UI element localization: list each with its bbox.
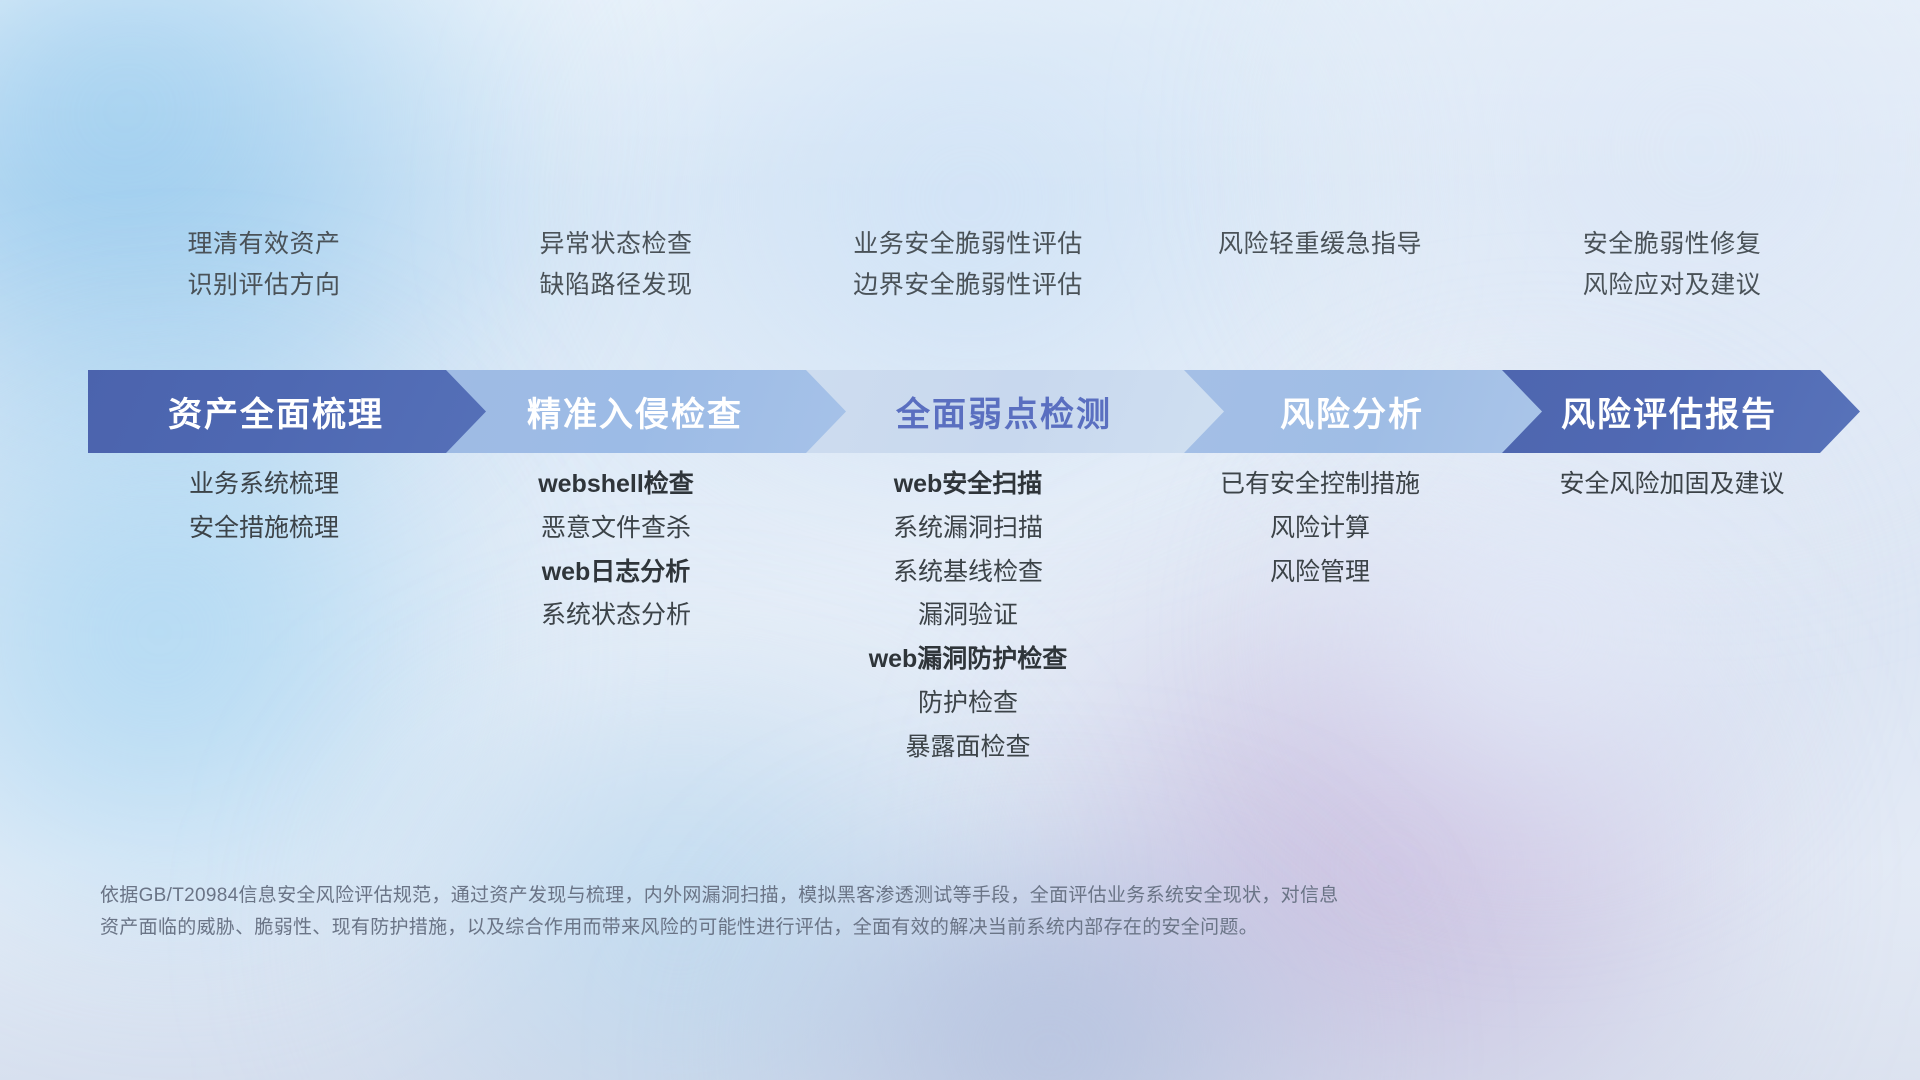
detail-item: 安全措施梳理: [189, 514, 339, 543]
detail-group-2: webshell检查 恶意文件查杀 web日志分析 系统状态分析: [440, 470, 792, 761]
chevron-stage-3[interactable]: 全面弱点检测: [806, 370, 1226, 453]
top-caption: 缺陷路径发现: [539, 273, 692, 298]
chevron-stage-1[interactable]: 资产全面梳理: [88, 370, 488, 453]
detail-item: 安全风险加固及建议: [1559, 470, 1784, 499]
detail-item: 已有安全控制措施: [1220, 470, 1420, 499]
detail-item: web日志分析: [542, 558, 691, 587]
detail-item: 系统漏洞扫描: [893, 514, 1043, 543]
detail-item: 暴露面检查: [905, 733, 1030, 762]
detail-group-4: 已有安全控制措施 风险计算 风险管理: [1144, 470, 1496, 761]
detail-item: web安全扫描: [894, 470, 1043, 499]
detail-group-3: web安全扫描 系统漏洞扫描 系统基线检查 漏洞验证 web漏洞防护检查 防护检…: [792, 470, 1144, 761]
chevron-label: 资产全面梳理: [168, 387, 384, 436]
bottom-details-row: 业务系统梳理 安全措施梳理 webshell检查 恶意文件查杀 web日志分析 …: [88, 470, 1848, 761]
top-caption: 边界安全脆弱性评估: [853, 273, 1083, 298]
chevron-stage-4[interactable]: 风险分析: [1184, 370, 1544, 453]
top-caption: 风险应对及建议: [1583, 273, 1762, 298]
top-caption-group-4: 风险轻重缓急指导: [1144, 232, 1496, 298]
top-caption-group-1: 理清有效资产 识别评估方向: [88, 232, 440, 298]
chevron-stage-2[interactable]: 精准入侵检查: [446, 370, 848, 453]
detail-item: 恶意文件查杀: [541, 514, 691, 543]
top-caption: 风险轻重缓急指导: [1218, 232, 1422, 257]
chevron-label: 全面弱点检测: [896, 387, 1112, 436]
detail-item: webshell检查: [538, 470, 694, 499]
top-caption-group-3: 业务安全脆弱性评估 边界安全脆弱性评估: [792, 232, 1144, 298]
detail-item: 防护检查: [918, 689, 1018, 718]
footer-line: 资产面临的威胁、脆弱性、现有防护措施，以及综合作用而带来风险的可能性进行评估，全…: [100, 912, 1630, 944]
top-caption: 理清有效资产: [187, 232, 340, 257]
chevron-label: 精准入侵检查: [527, 387, 743, 436]
top-caption: 异常状态检查: [539, 232, 692, 257]
detail-item: 风险计算: [1270, 514, 1370, 543]
top-captions-row: 理清有效资产 识别评估方向 异常状态检查 缺陷路径发现 业务安全脆弱性评估 边界…: [88, 232, 1848, 298]
top-caption: 业务安全脆弱性评估: [853, 232, 1083, 257]
top-caption: 识别评估方向: [187, 273, 340, 298]
process-chevron-banner: 资产全面梳理 精准入侵检查 全面弱点检测 风险分析 风险评估报告: [88, 370, 1860, 453]
detail-item: 漏洞验证: [918, 601, 1018, 630]
footer-line: 依据GB/T20984信息安全风险评估规范，通过资产发现与梳理，内外网漏洞扫描，…: [100, 880, 1630, 912]
chevron-stage-5[interactable]: 风险评估报告: [1502, 370, 1860, 453]
chevron-label: 风险评估报告: [1561, 387, 1777, 436]
detail-item: 系统基线检查: [893, 558, 1043, 587]
detail-item: 业务系统梳理: [189, 470, 339, 499]
detail-item: web漏洞防护检查: [869, 645, 1068, 674]
detail-item: 风险管理: [1270, 558, 1370, 587]
detail-item: 系统状态分析: [541, 601, 691, 630]
footer-description: 依据GB/T20984信息安全风险评估规范，通过资产发现与梳理，内外网漏洞扫描，…: [100, 880, 1630, 944]
detail-group-1: 业务系统梳理 安全措施梳理: [88, 470, 440, 761]
detail-group-5: 安全风险加固及建议: [1496, 470, 1848, 761]
chevron-label: 风险分析: [1280, 387, 1424, 436]
top-caption-group-5: 安全脆弱性修复 风险应对及建议: [1496, 232, 1848, 298]
slide-canvas: 理清有效资产 识别评估方向 异常状态检查 缺陷路径发现 业务安全脆弱性评估 边界…: [0, 0, 1920, 1080]
top-caption: 安全脆弱性修复: [1583, 232, 1762, 257]
top-caption-group-2: 异常状态检查 缺陷路径发现: [440, 232, 792, 298]
